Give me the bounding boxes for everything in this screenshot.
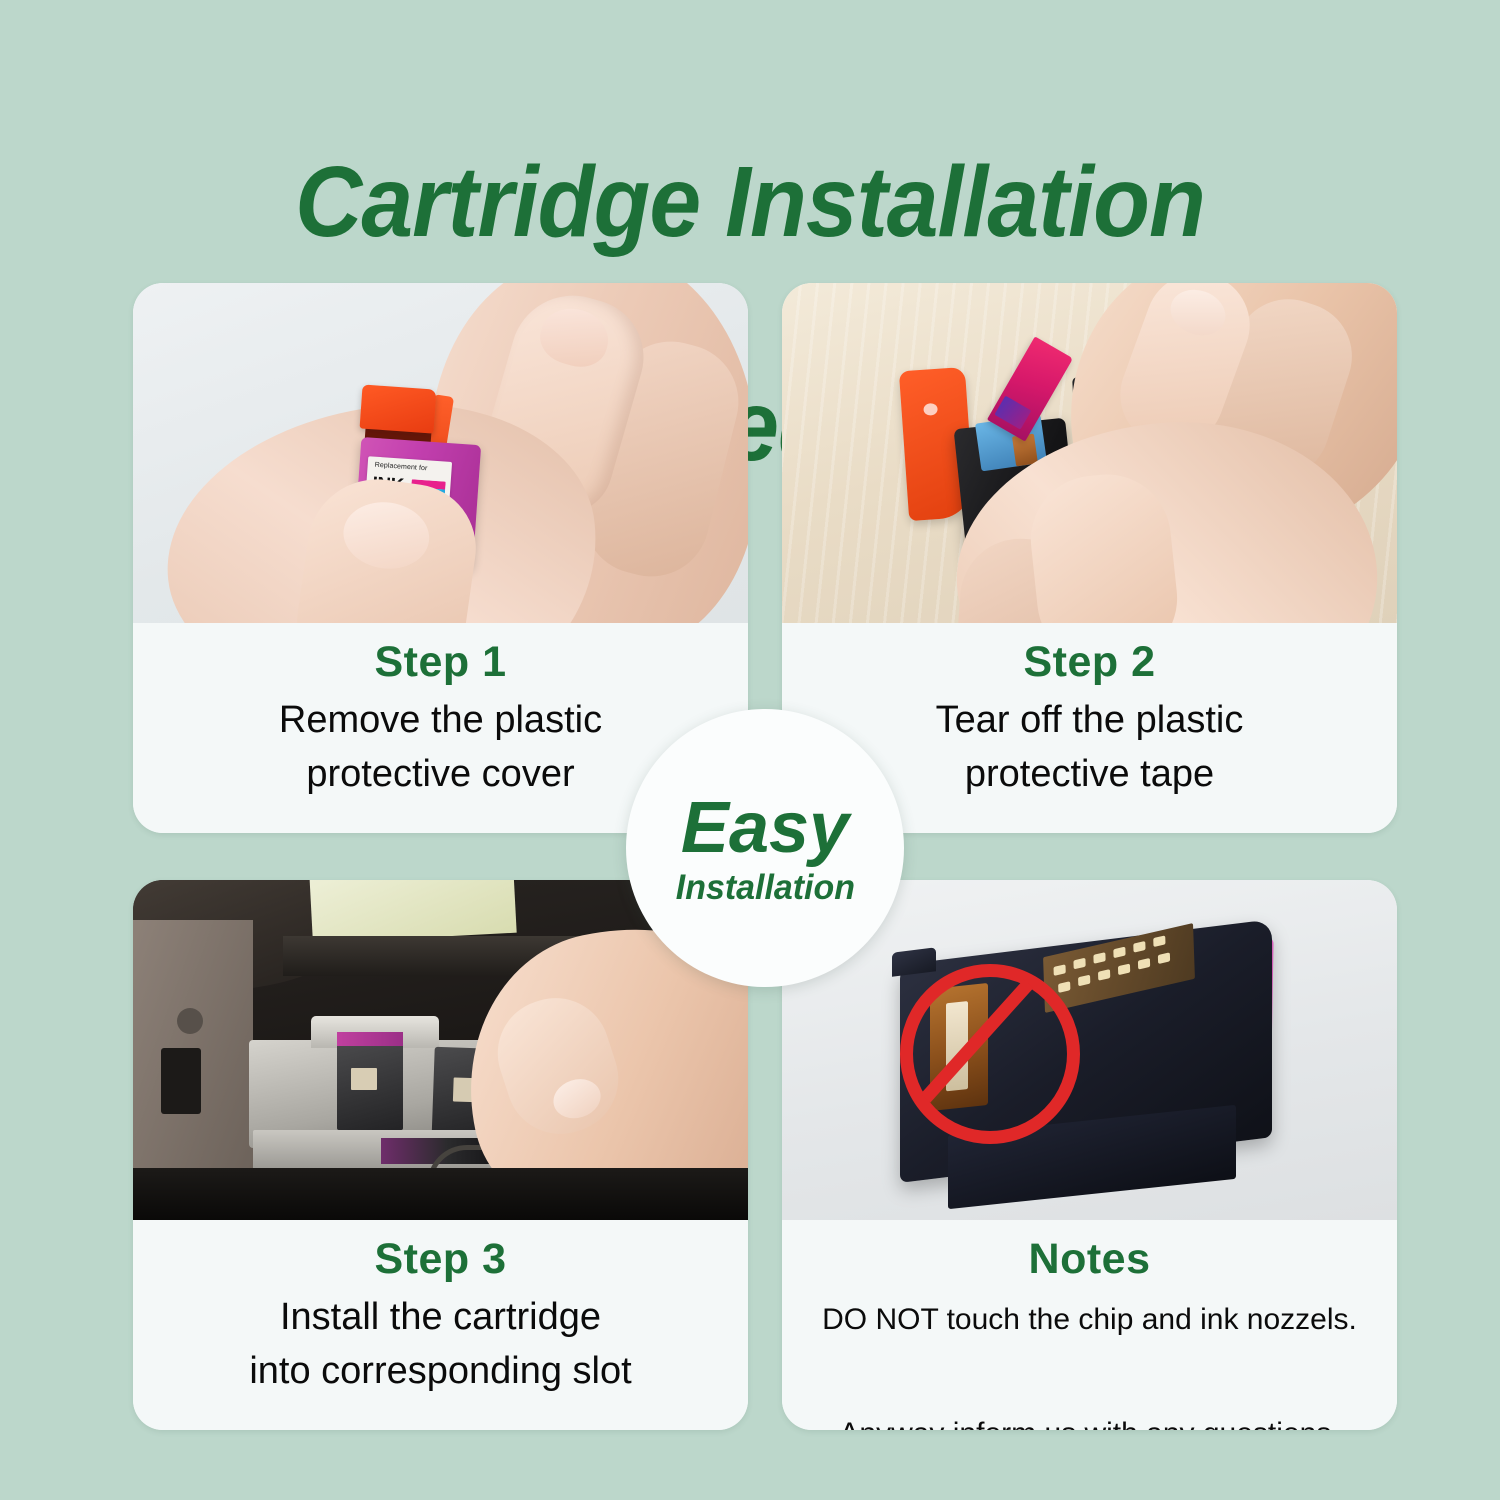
- notes-card: Notes DO NOT touch the chip and ink nozz…: [782, 880, 1397, 1430]
- printer-front-edge: [133, 1168, 748, 1220]
- step-2-heading: Step 2: [1023, 639, 1155, 686]
- prohibition-slash-icon: [900, 964, 1054, 1118]
- paper-sheet: [309, 880, 516, 943]
- badge-line-easy: Easy: [681, 792, 849, 864]
- step-3-description: Install the cartridge into corresponding…: [223, 1291, 657, 1399]
- step-card-1: Replacement for INK XL Color REMANUFACTU…: [133, 283, 748, 833]
- step-3-heading: Step 3: [374, 1236, 506, 1283]
- step-card-3: Step 3 Install the cartridge into corres…: [133, 880, 748, 1430]
- page-title-line-1: Cartridge Installation: [53, 146, 1448, 258]
- notes-description: DO NOT touch the chip and ink nozzels. A…: [808, 1291, 1371, 1430]
- notes-caption: Notes DO NOT touch the chip and ink nozz…: [782, 1220, 1397, 1430]
- badge-line-installation: Installation: [675, 870, 854, 905]
- step-2-description: Tear off the plastic protective tape: [910, 694, 1270, 802]
- easy-installation-badge: Easy Installation: [626, 709, 904, 987]
- step-1-heading: Step 1: [374, 639, 506, 686]
- notes-heading: Notes: [1029, 1236, 1151, 1283]
- installed-color-cartridge: [337, 1044, 403, 1130]
- step-2-photo: [782, 283, 1397, 623]
- step-1-photo: Replacement for INK XL Color REMANUFACTU…: [133, 283, 748, 623]
- label-replacement-for: Replacement for: [374, 462, 427, 473]
- step-card-2: Step 2 Tear off the plastic protective t…: [782, 283, 1397, 833]
- step-3-caption: Step 3 Install the cartridge into corres…: [133, 1220, 748, 1430]
- orange-protective-cover: [360, 384, 437, 433]
- step-1-description: Remove the plastic protective cover: [253, 694, 628, 802]
